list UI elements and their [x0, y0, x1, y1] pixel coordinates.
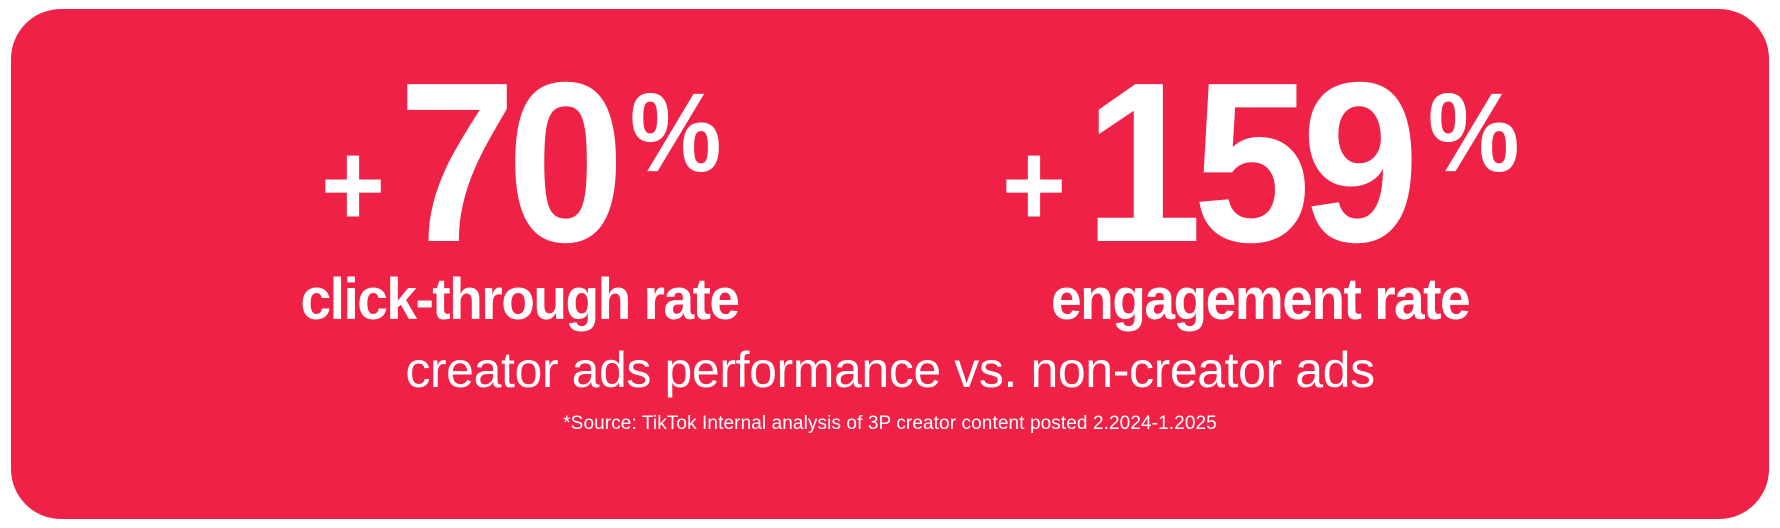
- percent-sign-icon: %: [1428, 77, 1517, 189]
- subtitle: creator ads performance vs. non-creator …: [11, 343, 1769, 398]
- plus-sign-icon: +: [1002, 125, 1065, 245]
- stat-block-click-through-rate: + 70 % click-through rate: [150, 9, 890, 329]
- stat-value-engagement-rate: + 159 %: [999, 69, 1520, 265]
- plus-sign-icon: +: [321, 125, 384, 245]
- screenshot-stage: + 70 % click-through rate + 159 % engage…: [0, 0, 1780, 528]
- stat-number: 70: [398, 69, 615, 258]
- stats-card: + 70 % click-through rate + 159 % engage…: [11, 9, 1769, 519]
- stat-value-click-through-rate: + 70 %: [318, 69, 722, 265]
- stat-block-engagement-rate: + 159 % engagement rate: [890, 9, 1630, 329]
- stat-label-click-through-rate: click-through rate: [301, 271, 739, 329]
- percent-sign-icon: %: [629, 77, 718, 189]
- stat-label-engagement-rate: engagement rate: [1051, 271, 1469, 329]
- stats-row: + 70 % click-through rate + 159 % engage…: [11, 9, 1769, 329]
- stat-number: 159: [1084, 69, 1410, 258]
- source-footnote: *Source: TikTok Internal analysis of 3P …: [11, 413, 1769, 436]
